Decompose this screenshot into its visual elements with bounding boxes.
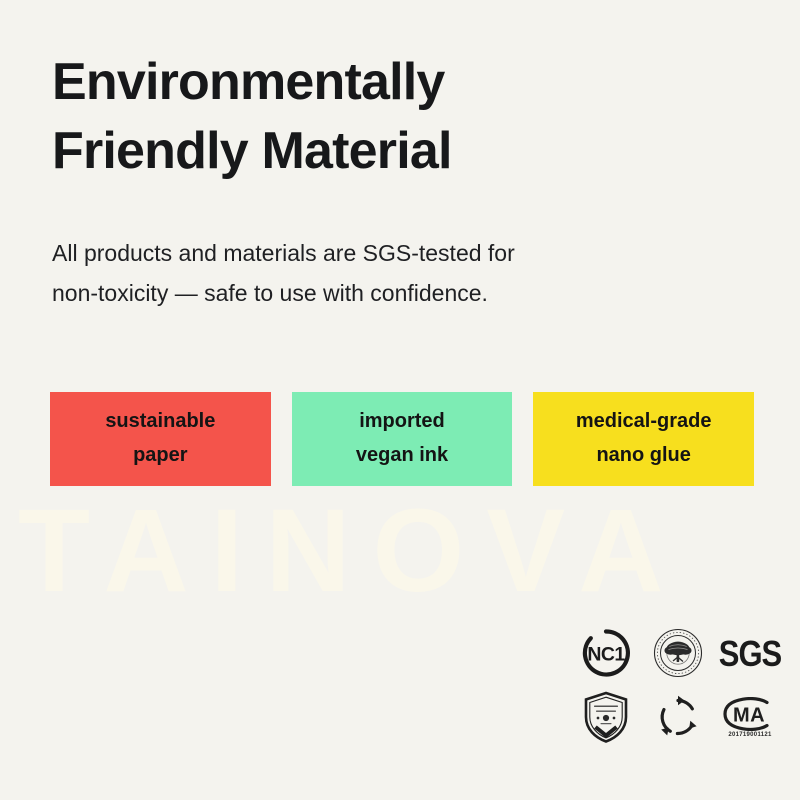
material-tag-line-1: medical-grade [576, 405, 712, 439]
sgs-wordmark: SGS [719, 635, 781, 672]
material-tag-line-1: sustainable [105, 405, 215, 439]
material-tag-line-2: nano glue [596, 439, 690, 473]
recycle-certification-icon [647, 687, 709, 747]
tag-medical-grade-nano-glue: medical-grade nano glue [533, 392, 754, 486]
certification-badge-grid: NC1 [572, 622, 784, 748]
poster-canvas: TAINOVA Environmentally Friendly Materia… [0, 0, 800, 800]
page-title: Environmentally Friendly Material [52, 48, 712, 185]
tree-seal-certification-icon [647, 623, 709, 683]
nc1-certification-icon: NC1 [575, 623, 637, 683]
page-title-line-2: Friendly Material [52, 117, 712, 186]
material-tag-line-1: imported [359, 405, 445, 439]
page-title-line-1: Environmentally [52, 48, 712, 117]
material-tag-line-2: vegan ink [356, 439, 448, 473]
svg-text:NC1: NC1 [587, 644, 625, 666]
shield-certification-icon [575, 687, 637, 747]
page-subtitle: All products and materials are SGS-teste… [52, 234, 672, 313]
material-tag-row: sustainable paper imported vegan ink med… [50, 392, 754, 486]
sgs-certification-icon: SGS [719, 623, 781, 683]
tag-imported-vegan-ink: imported vegan ink [292, 392, 513, 486]
cma-certification-icon: MA 201719001121 [719, 687, 781, 747]
page-subtitle-line-1: All products and materials are SGS-teste… [52, 234, 672, 274]
brand-watermark: TAINOVA [18, 492, 798, 610]
material-tag-line-2: paper [133, 439, 187, 473]
tag-sustainable-paper: sustainable paper [50, 392, 271, 486]
cma-certificate-number: 201719001121 [728, 732, 771, 738]
page-subtitle-line-2: non-toxicity — safe to use with confiden… [52, 274, 672, 314]
svg-text:MA: MA [733, 704, 765, 726]
